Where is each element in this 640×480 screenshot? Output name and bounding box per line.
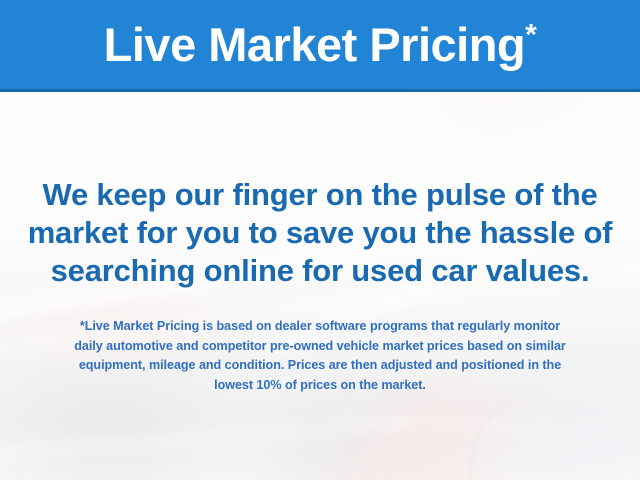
header-banner: Live Market Pricing* xyxy=(0,0,640,92)
disclaimer-block: *Live Market Pricing is based on dealer … xyxy=(18,317,622,395)
page-title: Live Market Pricing* xyxy=(104,21,537,68)
disclaimer-line-4: lowest 10% of prices on the market. xyxy=(18,376,622,396)
disclaimer-line-3: equipment, mileage and condition. Prices… xyxy=(18,356,622,376)
page-title-asterisk: * xyxy=(525,18,536,51)
headline-block: We keep our finger on the pulse of the m… xyxy=(0,176,640,290)
live-market-pricing-card: Live Market Pricing* We keep our finger … xyxy=(0,0,640,480)
headline-line-1: We keep our finger on the pulse of the xyxy=(0,176,640,214)
disclaimer-line-2: daily automotive and competitor pre-owne… xyxy=(18,337,622,357)
page-title-text: Live Market Pricing xyxy=(104,18,526,71)
disclaimer-line-1: *Live Market Pricing is based on dealer … xyxy=(18,317,622,337)
headline-line-2: market for you to save you the hassle of xyxy=(0,214,640,252)
headline-line-3: searching online for used car values. xyxy=(0,252,640,290)
